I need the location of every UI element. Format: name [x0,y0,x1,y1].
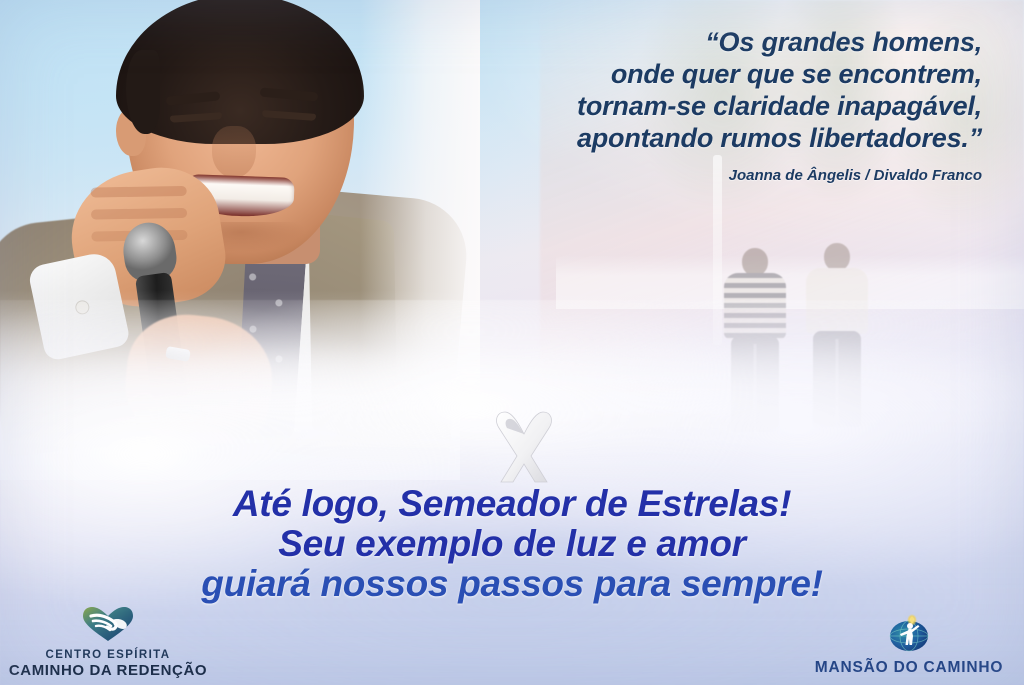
logo-centro-espirita-caminho-da-redencao[interactable]: CENTRO ESPÍRITA CAMINHO DA REDENÇÃO [8,606,208,679]
quote-line-4: apontando rumos libertadores.” [422,122,982,154]
quote-line-1: “Os grandes homens, [422,26,982,58]
logo-left-line-2: CAMINHO DA REDENÇÃO [8,662,208,679]
headline-line-3: guiará nossos passos para sempre! [0,564,1024,604]
headline-line-1: Até logo, Semeador de Estrelas! [0,484,1024,524]
figure-head [824,243,850,271]
figure-head [742,248,768,276]
headline-block: Até logo, Semeador de Estrelas! Seu exem… [0,484,1024,604]
heart-hands-logo-icon [8,606,208,647]
globe-figure-logo-icon [804,612,1014,657]
portrait-hair [116,0,364,144]
quote-line-2: onde quer que se encontrem, [422,58,982,90]
logo-left-line-1: CENTRO ESPÍRITA [8,649,208,661]
portrait-nose [212,126,256,178]
quote-block: “Os grandes homens, onde quer que se enc… [422,26,982,184]
memorial-poster: “Os grandes homens, onde quer que se enc… [0,0,1024,685]
logo-mansao-do-caminho[interactable]: MANSÃO DO CAMINHO [804,612,1014,677]
headline-line-2: Seu exemplo de luz e amor [0,524,1024,564]
quote-attribution: Joanna de Ângelis / Divaldo Franco [422,167,982,184]
mourning-ribbon-icon [487,408,561,490]
logo-right-line-1: MANSÃO DO CAMINHO [804,659,1014,677]
quote-line-3: tornam-se claridade inapagável, [422,90,982,122]
